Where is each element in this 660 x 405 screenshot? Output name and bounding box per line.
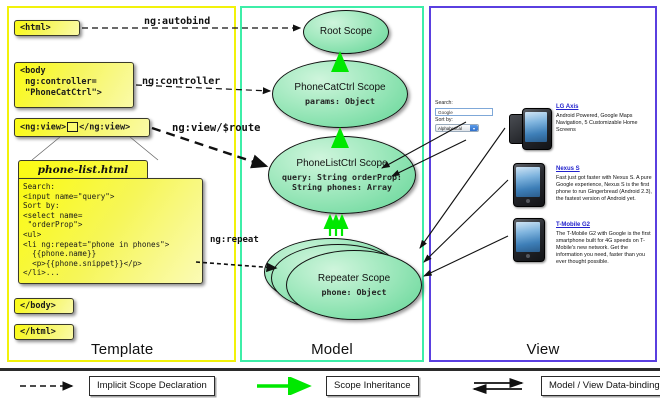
phone-listing-1: Nexus S Fast just got faster with Nexus …: [556, 166, 654, 203]
phone-listing-1-title[interactable]: Nexus S: [556, 166, 654, 172]
phone-list-note: phone-list.html Search: <input name="que…: [18, 160, 203, 292]
scope-repeater-stack: Repeater Scope phone: Object: [264, 228, 420, 324]
search-input[interactable]: Google: [435, 108, 493, 116]
scope-phonelistctrl: PhoneListCtrl Scope query: String orderP…: [268, 136, 416, 214]
phone-list-note-title: phone-list.html: [18, 160, 148, 180]
code-box-body-close: </body>: [14, 298, 74, 314]
scope-phonelistctrl-name: PhoneListCtrl Scope: [296, 158, 387, 170]
code-box-body-open: <body ng:controller= "PhoneCatCtrl">: [14, 62, 134, 108]
phone-image-1: [513, 163, 543, 205]
scope-repeater-name: Repeater Scope: [318, 273, 390, 285]
legend: Implicit Scope Declaration Scope Inherit…: [0, 368, 660, 405]
sort-label: Sort by:: [435, 117, 497, 124]
scope-root-name: Root Scope: [320, 26, 372, 38]
panel-model-title: Model: [242, 341, 422, 358]
legend-icon-green-arrow: [255, 377, 319, 395]
phone-image-0: [509, 108, 551, 148]
phone-list-note-code: Search: <input name="query"> Sort by: <s…: [18, 178, 203, 284]
legend-label-implicit-scope: Implicit Scope Declaration: [89, 376, 215, 396]
legend-label-scope-inheritance: Scope Inheritance: [326, 376, 419, 396]
scope-phonecatctrl-props: params: Object: [305, 96, 375, 106]
panel-template-title: Template: [9, 341, 153, 358]
scope-phonelistctrl-props: query: String orderProp: String phones: …: [269, 172, 415, 192]
ngview-open-tag: <ng:view>: [20, 123, 66, 133]
phone-listing-0-snippet: Android Powered, Google Maps Navigation,…: [556, 113, 654, 134]
legend-item-data-binding: Model / View Data-binding: [470, 376, 660, 396]
view-search-form: Search: Google Sort by: Alphabetical▾: [435, 100, 497, 133]
scope-phonecatctrl: PhoneCatCtrl Scope params: Object: [272, 60, 408, 128]
phone-listing-2: T-Mobile G2 The T-Mobile G2 with Google …: [556, 222, 654, 266]
sort-select-value: Alphabetical: [438, 126, 462, 131]
legend-label-data-binding: Model / View Data-binding: [541, 376, 660, 396]
legend-icon-double-arrow: [470, 377, 534, 395]
phone-listing-2-snippet: The T-Mobile G2 with Google is the first…: [556, 231, 654, 266]
legend-item-implicit-scope: Implicit Scope Declaration: [18, 376, 215, 396]
panel-view-title: View: [431, 341, 655, 358]
search-label: Search:: [435, 100, 497, 107]
ngview-close-tag: </ng:view>: [79, 123, 130, 133]
legend-item-scope-inheritance: Scope Inheritance: [255, 376, 419, 396]
scope-root: Root Scope: [303, 10, 389, 54]
sort-select[interactable]: Alphabetical▾: [435, 124, 479, 132]
phone-image-2: [513, 218, 543, 260]
phone-listing-1-snippet: Fast just got faster with Nexus S. A pur…: [556, 175, 654, 203]
legend-icon-dashed-arrow: [18, 377, 82, 395]
scope-phonecatctrl-name: PhoneCatCtrl Scope: [294, 82, 385, 94]
legend-divider: [0, 368, 660, 371]
phone-listing-2-title[interactable]: T-Mobile G2: [556, 222, 654, 228]
diagram-canvas: Template Model View <html> <body ng:cont…: [0, 0, 660, 405]
phone-listing-0-title[interactable]: LG Axis: [556, 104, 654, 110]
phone-listing-0: LG Axis Android Powered, Google Maps Nav…: [556, 104, 654, 134]
code-box-html-open: <html>: [14, 20, 80, 36]
code-box-ngview: <ng:view></ng:view>: [14, 118, 150, 137]
chevron-down-icon: ▾: [470, 125, 478, 131]
scope-repeater-props: phone: Object: [322, 287, 387, 297]
code-box-html-close: </html>: [14, 324, 74, 340]
scope-repeater: Repeater Scope phone: Object: [286, 250, 422, 320]
ngview-slot-icon: [67, 122, 78, 132]
